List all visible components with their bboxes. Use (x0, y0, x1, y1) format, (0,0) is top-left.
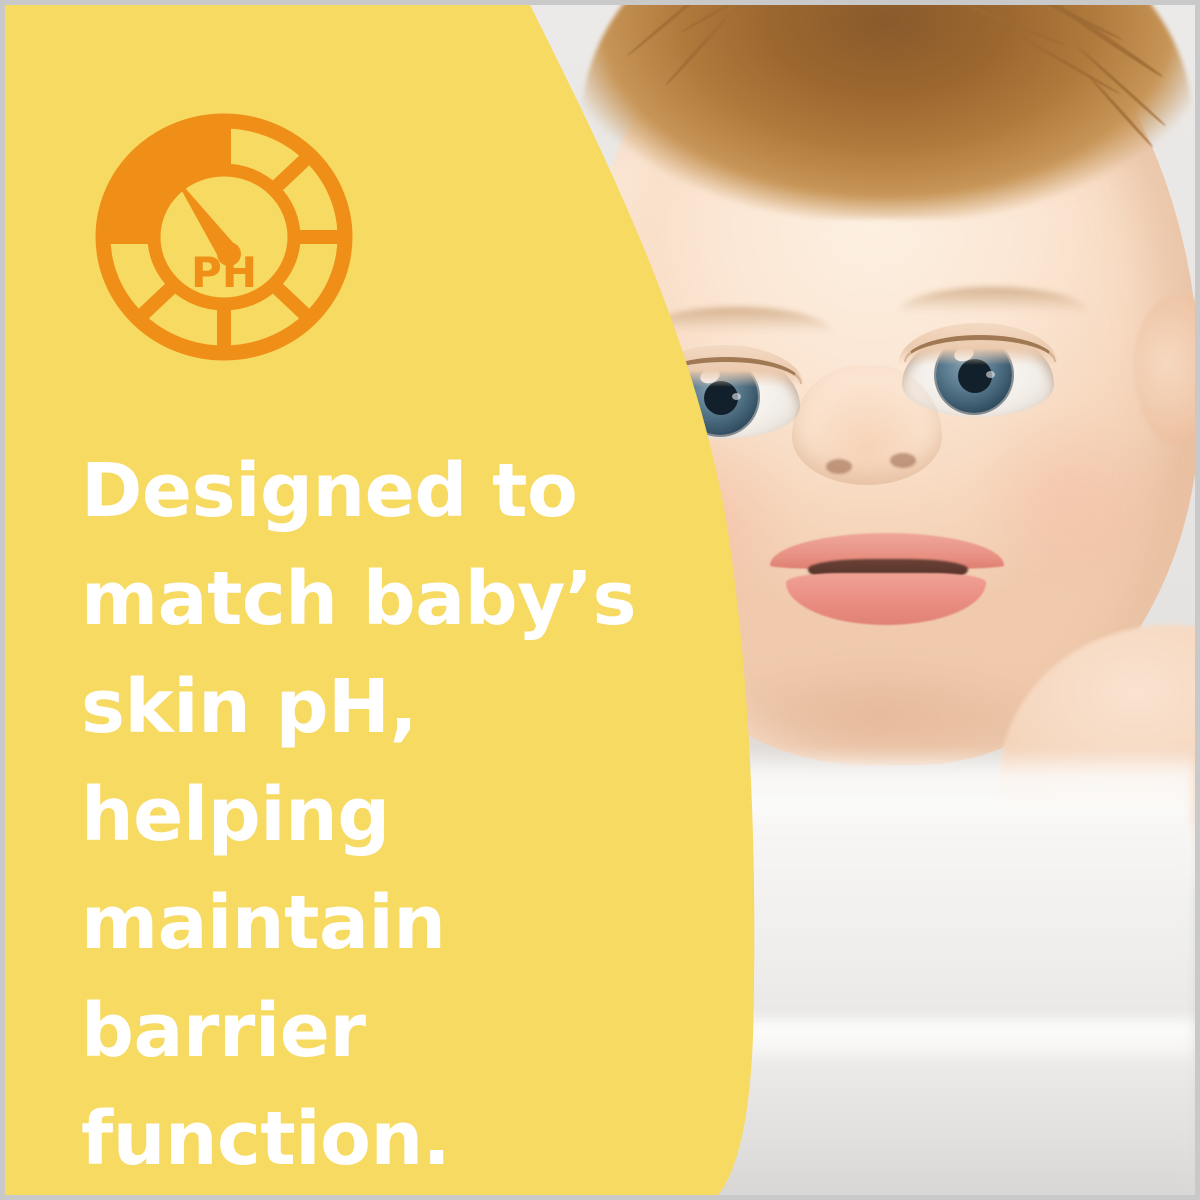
page-headline: Designed to match baby’s skin pH, helpin… (81, 437, 741, 1193)
baby-nose (792, 365, 942, 485)
baby-nostril-left (826, 459, 852, 474)
baby-nostril-right (890, 453, 916, 468)
ph-gauge-label: PH (191, 248, 257, 297)
panel-content: PH Designed to match baby’s skin pH, hel… (5, 5, 765, 1195)
eye-glint-secondary (986, 371, 995, 378)
ph-gauge-icon: PH (93, 111, 355, 363)
baby-mouth (762, 533, 1012, 629)
lower-lip (786, 573, 986, 625)
product-benefit-panel: PH Designed to match baby’s skin pH, hel… (0, 0, 1200, 1200)
